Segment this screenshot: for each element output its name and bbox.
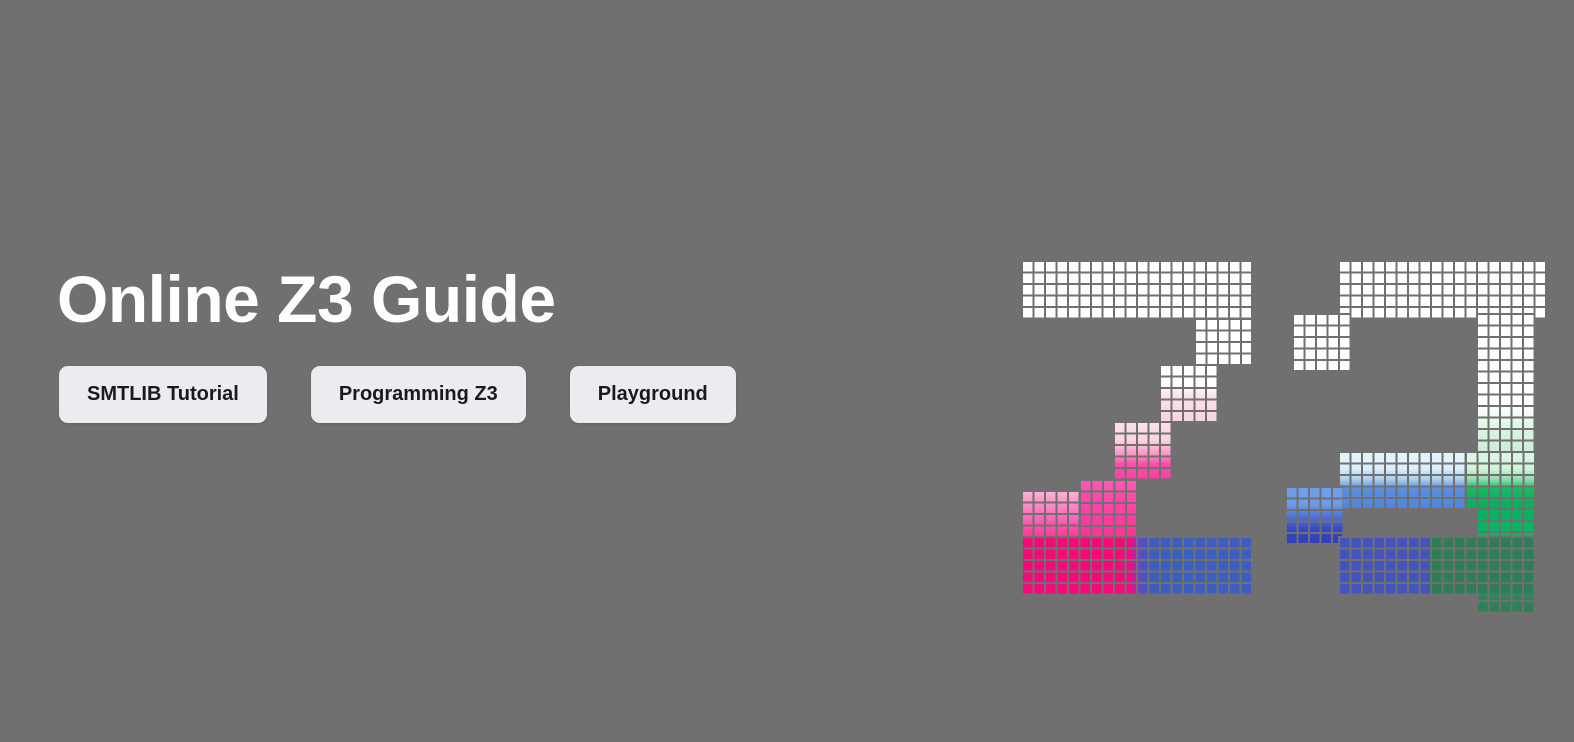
seven-step-2 <box>1113 421 1171 479</box>
three-right-upper-column <box>1476 313 1534 451</box>
hero-section: Online Z3 Guide SMTLIB Tutorial Programm… <box>0 0 1574 742</box>
seven-upper-right <box>1194 318 1252 364</box>
three-top-bar <box>1338 260 1545 318</box>
seven-step-3 <box>1079 479 1137 537</box>
three-left-lower-stub <box>1285 486 1343 544</box>
page-title: Online Z3 Guide <box>57 263 556 336</box>
three-middle-bar-blue <box>1338 451 1465 509</box>
seven-top-bar <box>1021 260 1251 318</box>
nav-button-group: SMTLIB Tutorial Programming Z3 Playgroun… <box>59 366 736 423</box>
three-top-left-stub <box>1292 313 1350 371</box>
seven-step-1 <box>1159 364 1217 422</box>
three-bottom-bar-green <box>1430 536 1534 594</box>
z3-pixel-logo <box>1016 255 1526 595</box>
programming-z3-button[interactable]: Programming Z3 <box>311 366 526 423</box>
three-middle-bar-green <box>1465 451 1534 509</box>
smtlib-tutorial-button[interactable]: SMTLIB Tutorial <box>59 366 267 423</box>
playground-button[interactable]: Playground <box>570 366 736 423</box>
seven-bottom-bar <box>1021 536 1251 594</box>
three-bottom-bar-blue <box>1338 536 1430 594</box>
